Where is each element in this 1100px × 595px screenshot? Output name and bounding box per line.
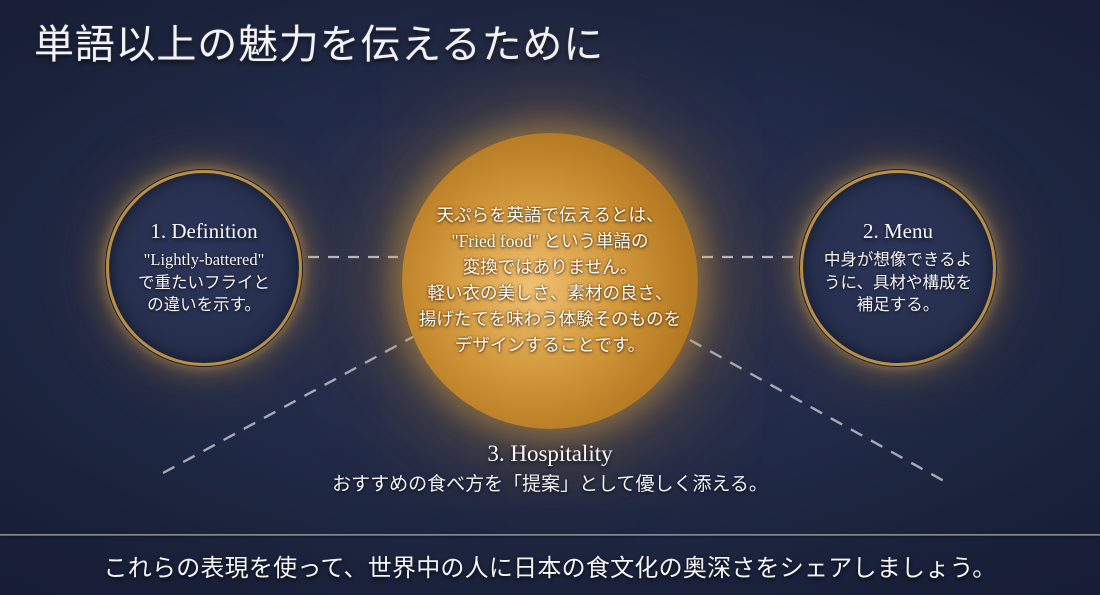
node-menu-heading: 2. Menu [863,219,933,244]
center-concept-text: 天ぷらを英語で伝えるとは、 "Fried food" という単語の 変換ではあり… [413,203,687,358]
node-menu-body: 中身が想像できるよ うに、具材や構成を 補足する。 [810,249,986,317]
slide-canvas: 単語以上の魅力を伝えるために 天ぷらを英語で伝えるとは、 "Fried food… [0,0,1100,595]
footer-divider [0,534,1100,536]
node-definition-circle: 1. Definition "Lightly-battered" で重たいフライ… [106,170,302,366]
node-definition-body: "Lightly-battered" で重たいフライと の違いを示す。 [124,249,284,317]
node-menu-circle: 2. Menu 中身が想像できるよ うに、具材や構成を 補足する。 [800,170,996,366]
node-hospitality-body: おすすめの食べ方を「提案」として優しく添える。 [0,473,1100,498]
page-title: 単語以上の魅力を伝えるために [34,22,604,68]
node-hospitality: 3. Hospitality おすすめの食べ方を「提案」として優しく添える。 [0,440,1100,497]
footer-message: これらの表現を使って、世界中の人に日本の食文化の奥深さをシェアしましょう。 [0,548,1100,583]
center-concept-circle: 天ぷらを英語で伝えるとは、 "Fried food" という単語の 変換ではあり… [402,133,698,429]
node-definition-heading: 1. Definition [150,219,257,244]
node-hospitality-heading: 3. Hospitality [0,440,1100,468]
